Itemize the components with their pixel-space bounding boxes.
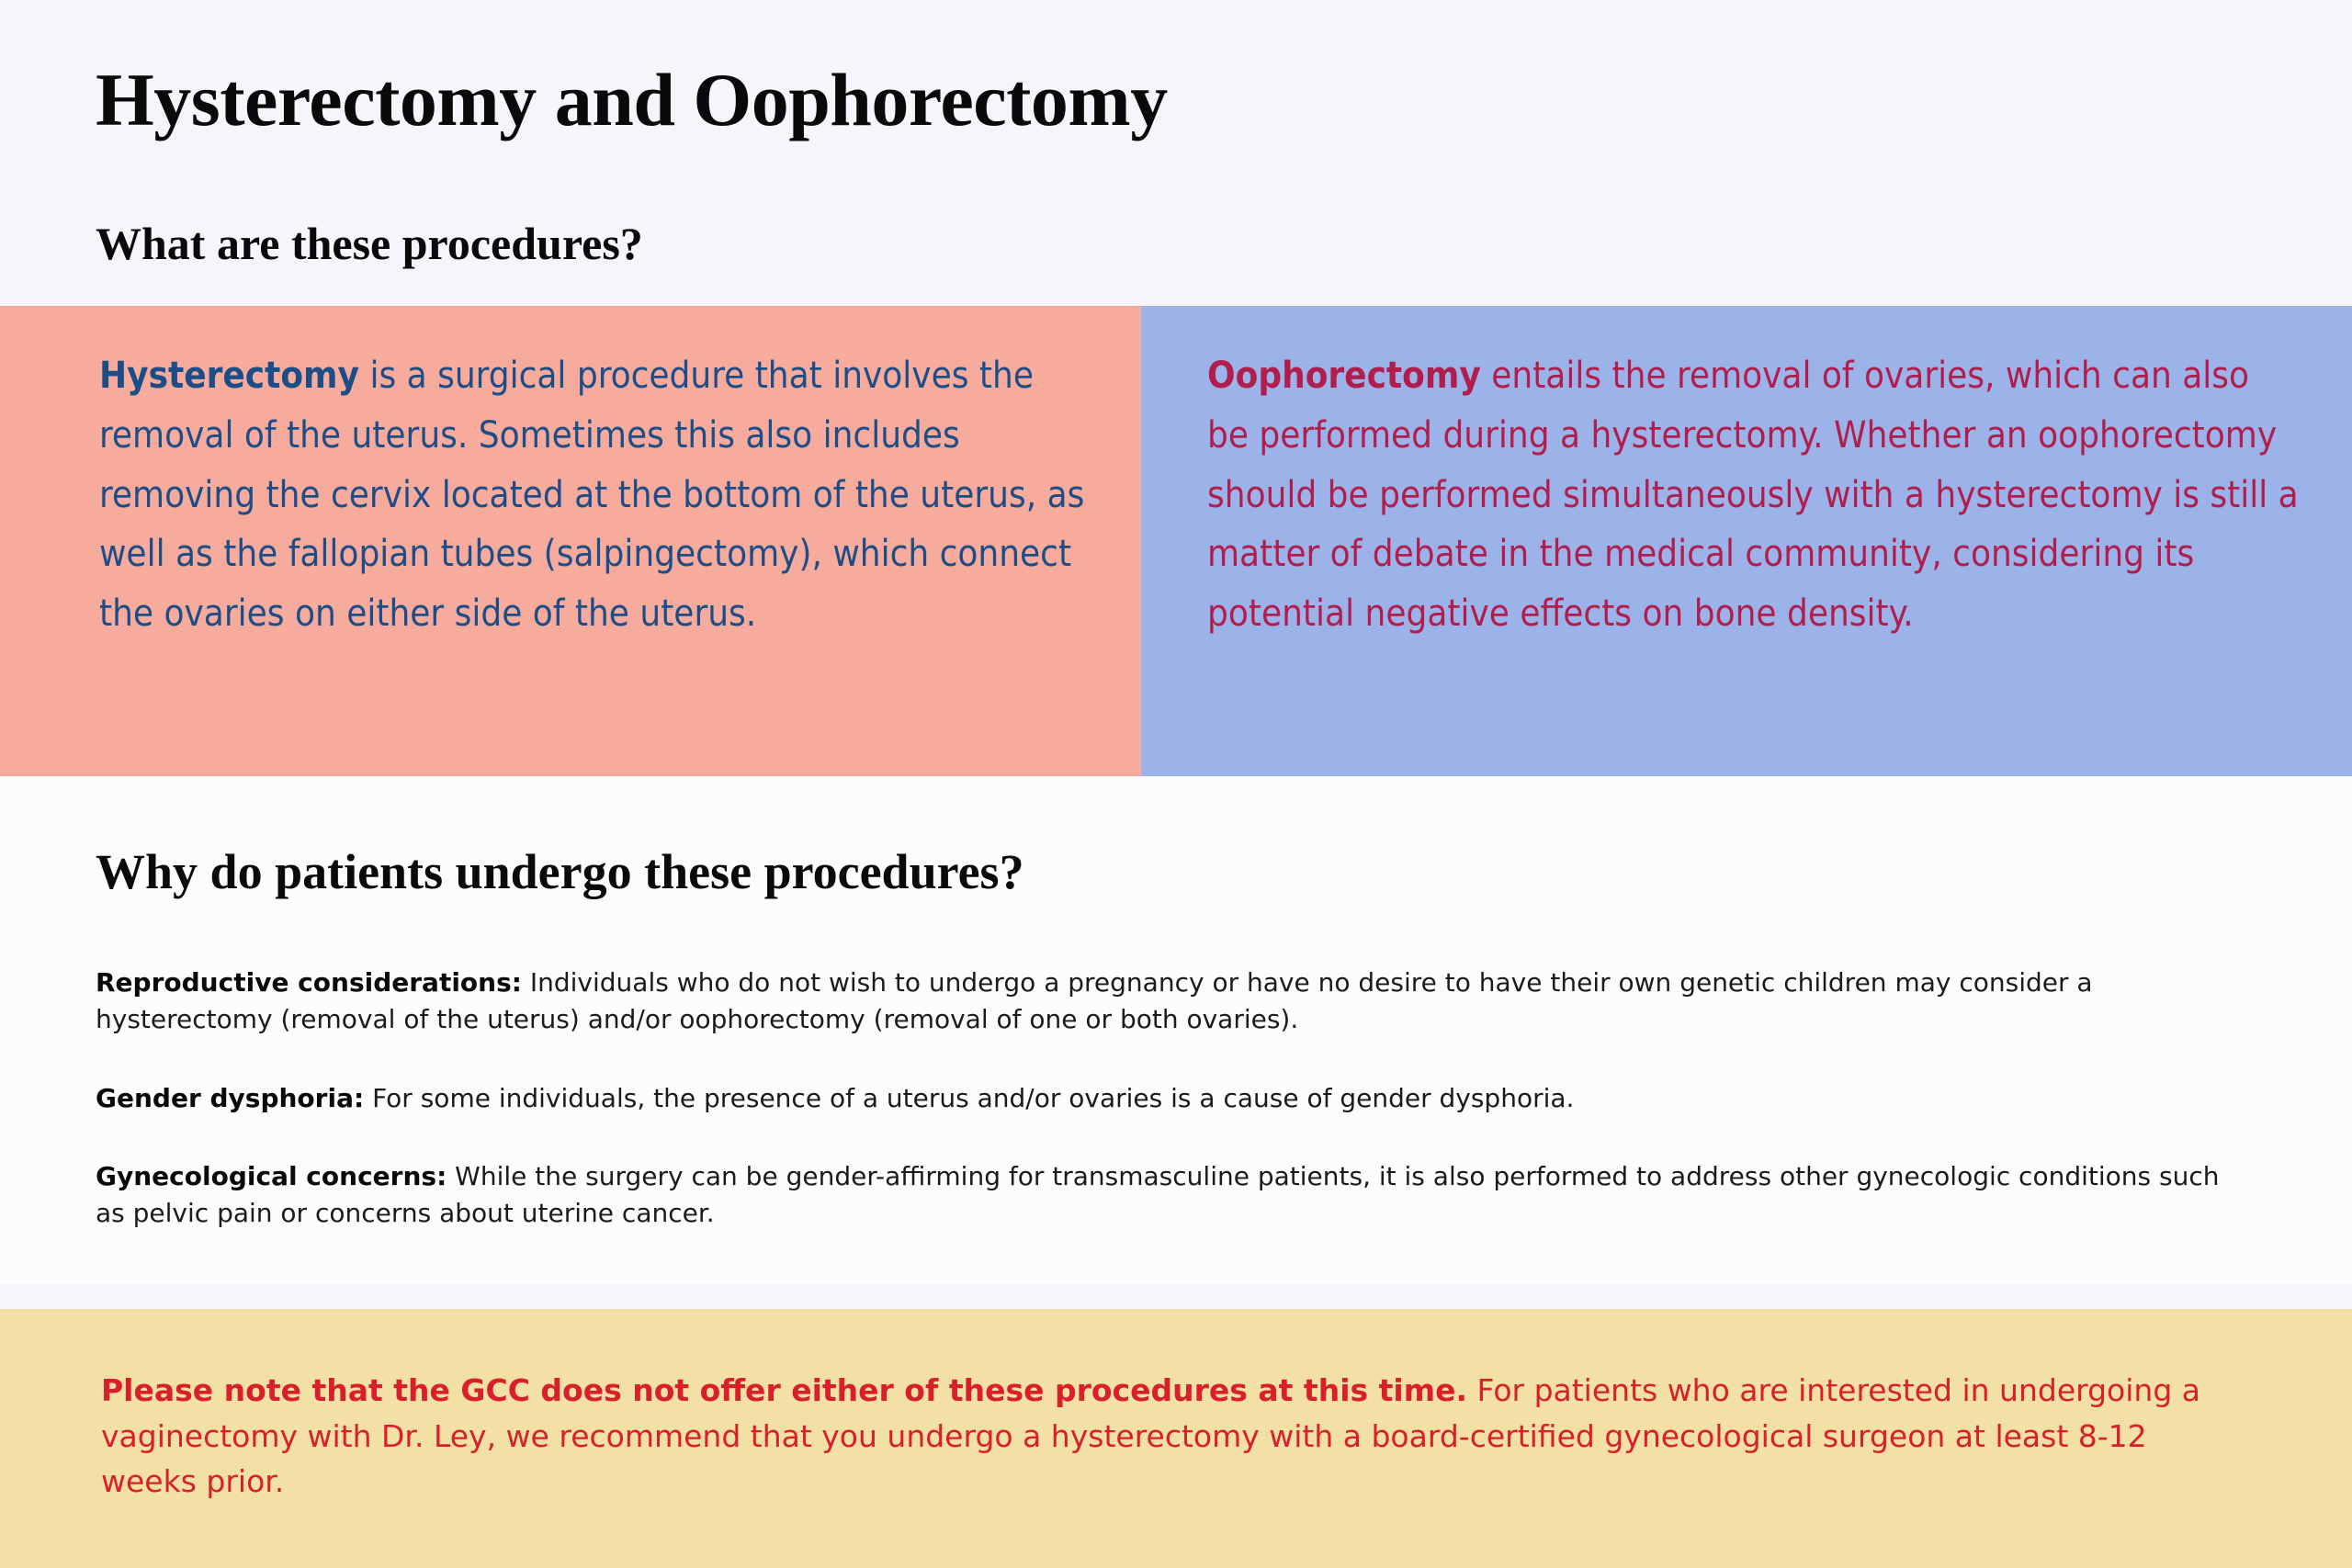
reasons-section: Why do patients undergo these procedures… bbox=[0, 776, 2352, 1284]
panel-oophorectomy-lead: Oophorectomy bbox=[1207, 355, 1481, 397]
header-band: Hysterectomy and Oophorectomy What are t… bbox=[0, 0, 2352, 306]
lavender-divider bbox=[0, 1284, 2352, 1309]
reasons-list: Reproductive considerations: Individuals… bbox=[96, 964, 2255, 1232]
panel-hysterectomy-lead: Hysterectomy bbox=[99, 355, 359, 397]
definition-panels: Hysterectomy is a surgical procedure tha… bbox=[0, 306, 2352, 776]
panel-hysterectomy: Hysterectomy is a surgical procedure tha… bbox=[0, 306, 1141, 776]
panel-hysterectomy-text: Hysterectomy is a surgical procedure tha… bbox=[99, 346, 1090, 644]
reason-item-lead: Reproductive considerations: bbox=[96, 967, 522, 998]
page-title: Hysterectomy and Oophorectomy bbox=[96, 62, 1168, 138]
reason-item-lead: Gender dysphoria: bbox=[96, 1083, 364, 1113]
note-band: Please note that the GCC does not offer … bbox=[0, 1309, 2352, 1568]
reason-item-body: For some individuals, the presence of a … bbox=[364, 1083, 1574, 1113]
reasons-section-heading: Why do patients undergo these procedures… bbox=[96, 847, 1024, 897]
reason-item: Gynecological concerns: While the surger… bbox=[96, 1158, 2255, 1232]
reason-item: Gender dysphoria: For some individuals, … bbox=[96, 1080, 2255, 1117]
reason-item-lead: Gynecological concerns: bbox=[96, 1161, 447, 1191]
section-subtitle-what-are-these-procedures: What are these procedures? bbox=[96, 220, 643, 266]
note-lead: Please note that the GCC does not offer … bbox=[101, 1372, 1467, 1408]
slide-page: Hysterectomy and Oophorectomy What are t… bbox=[0, 0, 2352, 1568]
panel-oophorectomy: Oophorectomy entails the removal of ovar… bbox=[1141, 306, 2352, 776]
reason-item: Reproductive considerations: Individuals… bbox=[96, 964, 2255, 1038]
panel-oophorectomy-text: Oophorectomy entails the removal of ovar… bbox=[1207, 346, 2301, 644]
note-text: Please note that the GCC does not offer … bbox=[101, 1368, 2233, 1505]
